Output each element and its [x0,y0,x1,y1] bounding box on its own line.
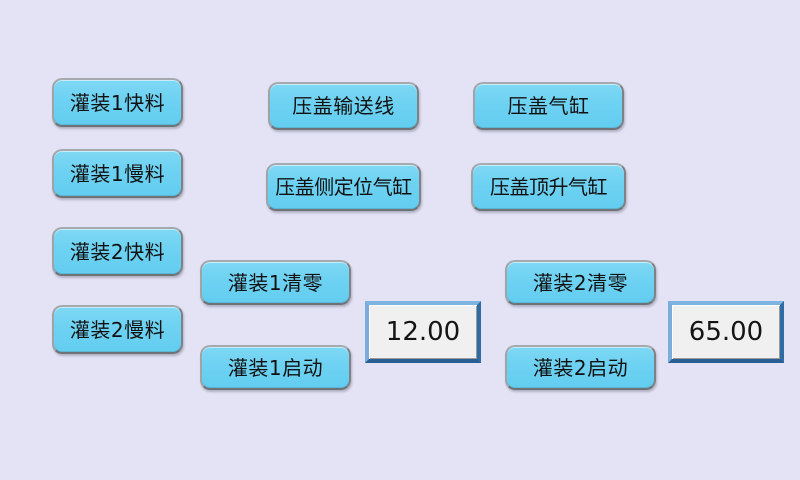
button-cap-conveyor-label: 压盖输送线 [292,96,395,116]
button-fill1-slow-label: 灌装1慢料 [70,164,165,184]
button-cap-lift-cylinder[interactable]: 压盖顶升气缸 [471,163,626,211]
button-fill2-slow-label: 灌装2慢料 [70,320,165,340]
display-fill2-value[interactable]: 65.00 [668,301,784,363]
button-fill1-slow[interactable]: 灌装1慢料 [52,149,183,198]
button-fill2-start-label: 灌装2启动 [533,358,628,378]
display-fill1-value[interactable]: 12.00 [365,301,481,363]
display-fill2-value-text: 65.00 [689,319,763,345]
button-fill2-fast-label: 灌装2快料 [70,242,165,262]
button-cap-cylinder-label: 压盖气缸 [508,96,590,116]
button-fill1-start[interactable]: 灌装1启动 [200,345,351,390]
button-fill2-fast[interactable]: 灌装2快料 [52,227,183,276]
button-fill2-reset[interactable]: 灌装2清零 [505,260,656,305]
button-fill1-fast-label: 灌装1快料 [70,93,165,113]
button-fill2-slow[interactable]: 灌装2慢料 [52,305,183,354]
hmi-screen: 灌装1快料 灌装1慢料 灌装2快料 灌装2慢料 压盖输送线 压盖侧定位气缸 压盖… [0,0,800,480]
button-fill2-start[interactable]: 灌装2启动 [505,345,656,390]
display-fill1-value-text: 12.00 [386,319,460,345]
button-cap-cylinder[interactable]: 压盖气缸 [473,82,624,130]
button-fill1-reset[interactable]: 灌装1清零 [200,260,351,305]
button-fill1-fast[interactable]: 灌装1快料 [52,78,183,127]
button-cap-lift-cylinder-label: 压盖顶升气缸 [490,177,607,197]
button-fill2-reset-label: 灌装2清零 [533,273,628,293]
button-cap-side-position-cylinder-label: 压盖侧定位气缸 [275,177,412,197]
button-cap-conveyor[interactable]: 压盖输送线 [268,82,419,130]
button-cap-side-position-cylinder[interactable]: 压盖侧定位气缸 [266,163,421,211]
button-fill1-reset-label: 灌装1清零 [228,273,323,293]
button-fill1-start-label: 灌装1启动 [228,358,323,378]
